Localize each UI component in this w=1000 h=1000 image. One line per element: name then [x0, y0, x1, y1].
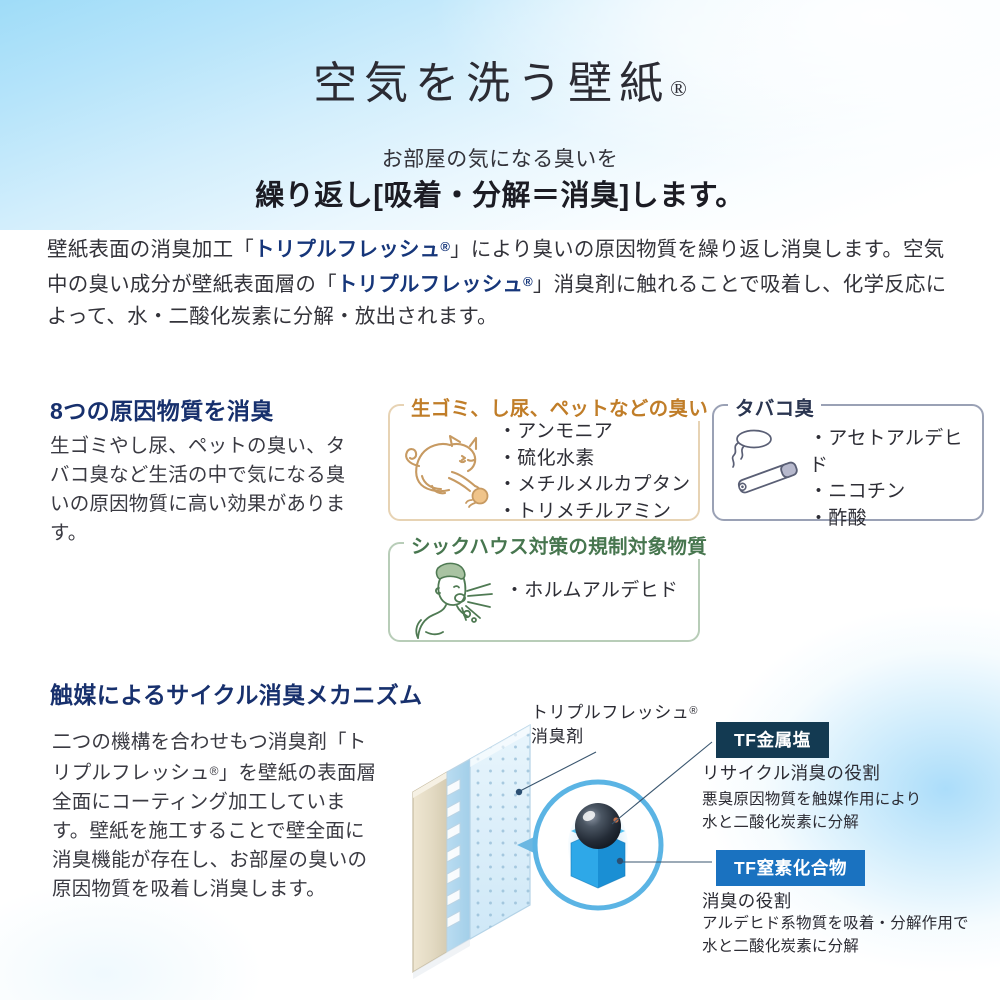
infographic-page: 空気を洗う壁紙® お部屋の気になる臭いを 繰り返し[吸着・分解＝消臭]します。 … — [0, 0, 1000, 1000]
annotation-1-body: 悪臭原因物質を触媒作用により水と二酸化炭素に分解 — [702, 788, 922, 834]
wallpaper-surface-layer — [470, 725, 530, 939]
odor-box-sickhouse-list: ・ホルムアルデヒド — [505, 578, 678, 605]
odor-box-tobacco: タバコ臭 ・アセトアルデヒド ・ニコチン ・ — [712, 404, 984, 521]
odor-box-sickhouse: シックハウス対策の規制対象物質 — [388, 542, 700, 642]
coughing-person-icon — [404, 558, 500, 640]
subtitle-line-1: お部屋の気になる臭いを — [0, 143, 1000, 173]
list-item: ・硫化水素 — [498, 446, 690, 473]
intro-part-1: 壁紙表面の消臭加工「 — [47, 238, 254, 261]
list-item: ・トリメチルアミン — [498, 499, 690, 526]
cigarette-icon — [722, 426, 814, 504]
wallpaper-embossed-edge — [447, 759, 470, 952]
registered-mark-icon: ® — [440, 239, 450, 254]
registered-mark-icon: ® — [670, 76, 687, 101]
odor-box-garbage-list: ・アンモニア ・硫化水素 ・メチルメルカプタン ・トリメチルアミン — [498, 419, 690, 525]
brand-name-1: トリプルフレッシュ — [254, 238, 440, 261]
list-item: ・アセトアルデヒド — [809, 426, 982, 479]
intro-paragraph: 壁紙表面の消臭加工「トリプルフレッシュ®」により臭いの原因物質を繰り返し消臭しま… — [47, 231, 957, 333]
registered-mark-icon: ® — [689, 705, 698, 717]
section-1-heading: 8つの原因物質を消臭 — [50, 392, 274, 426]
badge-tf-metal-salt: TF金属塩 — [716, 722, 829, 758]
list-item: ・メチルメルカプタン — [498, 472, 690, 499]
brand-name-2: トリプルフレッシュ — [337, 273, 523, 296]
section-2-heading: 触媒によるサイクル消臭メカニズム — [50, 676, 423, 710]
odor-box-garbage-label: 生ゴミ、し尿、ペットなどの臭い — [404, 392, 715, 421]
list-item: ・ホルムアルデヒド — [505, 578, 678, 605]
odor-box-garbage: 生ゴミ、し尿、ペットなどの臭い — [388, 404, 700, 521]
list-item: ・酢酸 — [809, 506, 982, 533]
cat-icon — [396, 420, 500, 512]
annotation-1-title: リサイクル消臭の役割 — [702, 760, 880, 785]
list-item: ・アンモニア — [498, 419, 690, 446]
annotation-1-body-line-2: 水と二酸化炭素に分解 — [702, 814, 859, 831]
list-item: ・ニコチン — [809, 479, 982, 506]
registered-mark-icon: ® — [210, 764, 219, 778]
page-title: 空気を洗う壁紙® — [0, 47, 1000, 111]
diagram-caption-line-1: トリプルフレッシュ — [531, 703, 689, 722]
odor-box-tobacco-list: ・アセトアルデヒド ・ニコチン ・酢酸 — [809, 426, 982, 532]
section-1-body: 生ゴミやし尿、ペットの臭い、タバコ臭など生活の中で気になる臭いの原因物質に高い効… — [50, 432, 350, 548]
registered-mark-icon: ® — [523, 274, 533, 289]
odor-box-sickhouse-label: シックハウス対策の規制対象物質 — [404, 530, 714, 559]
odor-box-tobacco-label: タバコ臭 — [728, 392, 821, 421]
subtitle-line-2: 繰り返し[吸着・分解＝消臭]します。 — [0, 172, 1000, 214]
header-gradient-highlight — [0, 0, 1000, 260]
annotation-2-title: 消臭の役割 — [702, 888, 792, 913]
annotation-2-body-line-1: アルデヒド系物質を吸着・分解作用で — [702, 915, 969, 932]
diagram-caption: トリプルフレッシュ®消臭剤 — [531, 699, 698, 749]
wallpaper-core-layer — [413, 772, 447, 972]
page-title-text: 空気を洗う壁紙 — [313, 59, 670, 108]
annotation-2-body: アルデヒド系物質を吸着・分解作用で水と二酸化炭素に分解 — [702, 912, 969, 958]
annotation-2-body-line-2: 水と二酸化炭素に分解 — [702, 938, 859, 955]
diagram-caption-line-2: 消臭剤 — [531, 727, 584, 746]
badge-tf-nitrogen-compound: TF窒素化合物 — [716, 850, 865, 886]
section-2-body: 二つの機構を合わせもつ消臭剤「トリプルフレッシュ®」を壁紙の表面層全面にコーティ… — [52, 728, 382, 904]
annotation-1-body-line-1: 悪臭原因物質を触媒作用により — [702, 791, 922, 808]
